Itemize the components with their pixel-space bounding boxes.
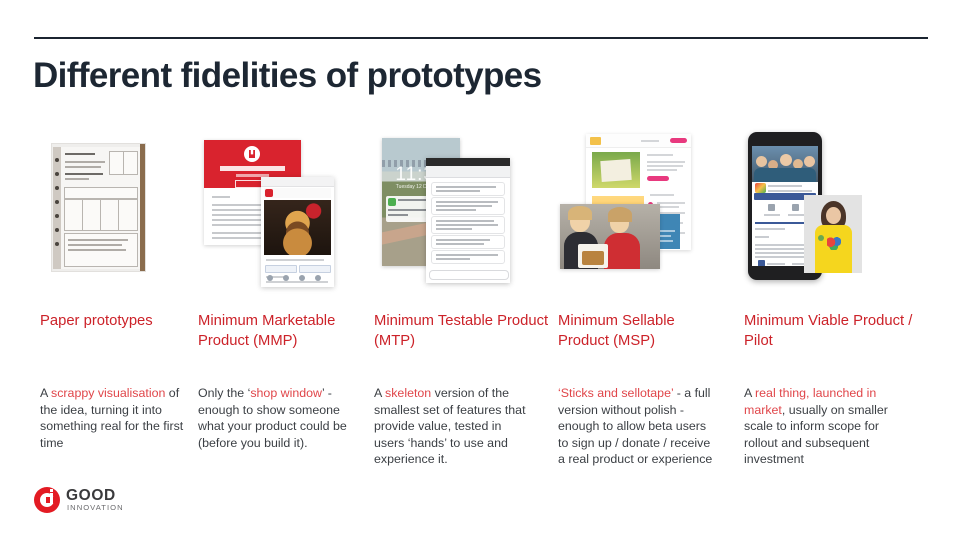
- image-minimum-sellable-product: [558, 130, 733, 290]
- post-icon: [315, 275, 321, 281]
- column-heading-paper-prototypes: Paper prototypes: [40, 312, 212, 332]
- phone-social-post-mockup: [261, 177, 334, 287]
- page-avatar: [755, 183, 766, 193]
- notebook-page: [61, 147, 140, 269]
- prototype-columns: Paper prototypes A scrappy visualisation…: [0, 130, 960, 530]
- chat-status-bar: [426, 158, 510, 166]
- spiral-hole: [55, 200, 59, 204]
- column-minimum-sellable-product: Minimum Sellable Product (MSP) ‘Sticks a…: [558, 130, 733, 290]
- notebook-spine: [53, 147, 61, 269]
- image-minimum-viable-product-pilot: [744, 130, 919, 290]
- column-paper-prototypes: Paper prototypes A scrappy visualisation…: [40, 130, 215, 290]
- notification-app-icon: [388, 198, 396, 206]
- book-cover-photo: [582, 251, 604, 265]
- child-body: [604, 233, 640, 269]
- chat-input-field[interactable]: [429, 270, 509, 280]
- spiral-hole: [55, 228, 59, 232]
- page-action-icon: [792, 204, 799, 211]
- notebook-edge: [140, 144, 145, 271]
- column-minimum-marketable-product: Minimum Marketable Product (MMP) Only th…: [198, 130, 373, 290]
- body-prefix: A: [744, 386, 755, 400]
- column-heading-minimum-testable-product: Minimum Testable Product (MTP): [374, 312, 554, 351]
- chat-bubble: [431, 235, 505, 249]
- brand-badge-icon: [244, 146, 260, 162]
- column-heading-minimum-marketable-product: Minimum Marketable Product (MMP): [198, 312, 370, 351]
- chat-bubble: [431, 182, 505, 196]
- post-icon: [267, 275, 273, 281]
- webpage-logo: [590, 137, 601, 145]
- spiral-hole: [55, 186, 59, 190]
- column-minimum-viable-product-pilot: Minimum Viable Product / Pilot A real th…: [744, 130, 919, 290]
- logo-wordmark: GOOD: [66, 488, 116, 504]
- image-paper-prototypes: [40, 130, 215, 290]
- webpage-cta-pill: [670, 138, 687, 143]
- spiral-hole: [55, 214, 59, 218]
- chat-header: [426, 166, 510, 178]
- body-highlight: ‘Sticks and sellotape’: [558, 386, 673, 400]
- page-action-icon: [768, 204, 775, 211]
- column-heading-minimum-sellable-product: Minimum Sellable Product (MSP): [558, 312, 718, 351]
- column-body-paper-prototypes: A scrappy visualisation of the idea, tur…: [40, 385, 197, 451]
- tshirt-graphic: [827, 237, 841, 250]
- email-hero-title: [220, 166, 285, 171]
- body-highlight: scrappy visualisation: [51, 386, 165, 400]
- paper-sketch-photo: [52, 144, 145, 271]
- child-hair: [608, 207, 632, 222]
- column-body-minimum-testable-product: A skeleton version of the smallest set o…: [374, 385, 526, 468]
- column-body-minimum-sellable-product: ‘Sticks and sellotape’ - a full version …: [558, 385, 716, 468]
- webpage-photo: [592, 152, 640, 188]
- post-action-button: [265, 265, 297, 273]
- body-highlight: shop window: [250, 386, 322, 400]
- logo-mark-icon: [34, 487, 60, 513]
- child-hair: [568, 206, 592, 220]
- chat-bubble: [431, 250, 505, 264]
- post-icon: [299, 275, 305, 281]
- children-photo: [560, 204, 660, 269]
- post-food-photo: [264, 200, 331, 255]
- chat-bubble: [431, 216, 505, 234]
- facebook-cover-photo: [752, 146, 818, 182]
- post-action-button: [299, 265, 331, 273]
- image-minimum-testable-product: 11:32 Tuesday 12 December: [374, 130, 549, 290]
- phone-status-bar: [261, 177, 334, 187]
- spiral-hole: [55, 172, 59, 176]
- column-heading-minimum-viable-product-pilot: Minimum Viable Product / Pilot: [744, 312, 914, 351]
- tshirt-logo: [818, 235, 824, 241]
- header-divider: [34, 37, 928, 39]
- column-minimum-testable-product: 11:32 Tuesday 12 December: [374, 130, 549, 290]
- body-prefix: Only the ‘: [198, 386, 250, 400]
- person-face: [826, 207, 841, 224]
- body-prefix: A: [374, 386, 385, 400]
- spiral-hole: [55, 242, 59, 246]
- column-body-minimum-viable-product-pilot: A real thing, launched in market, usuall…: [744, 385, 910, 468]
- webpage-cta-pill: [647, 176, 669, 181]
- column-body-minimum-marketable-product: Only the ‘shop window’ - enough to show …: [198, 385, 355, 451]
- chat-bubble: [431, 197, 505, 215]
- good-innovation-logo: GOOD INNOVATION: [34, 485, 184, 515]
- image-minimum-marketable-product: [198, 130, 373, 290]
- person-in-branded-tshirt-photo: [804, 195, 862, 273]
- post-icon: [283, 275, 289, 281]
- like-icon: [758, 260, 765, 266]
- body-prefix: A: [40, 386, 51, 400]
- spiral-hole: [55, 158, 59, 162]
- body-highlight: skeleton: [385, 386, 431, 400]
- chat-interface-mockup: [426, 158, 510, 283]
- post-header: [264, 188, 331, 198]
- post-avatar: [265, 189, 273, 197]
- logo-subtitle: INNOVATION: [67, 504, 124, 512]
- page-title: Different fidelities of prototypes: [33, 55, 913, 96]
- logo-i-stroke-icon: [50, 493, 53, 504]
